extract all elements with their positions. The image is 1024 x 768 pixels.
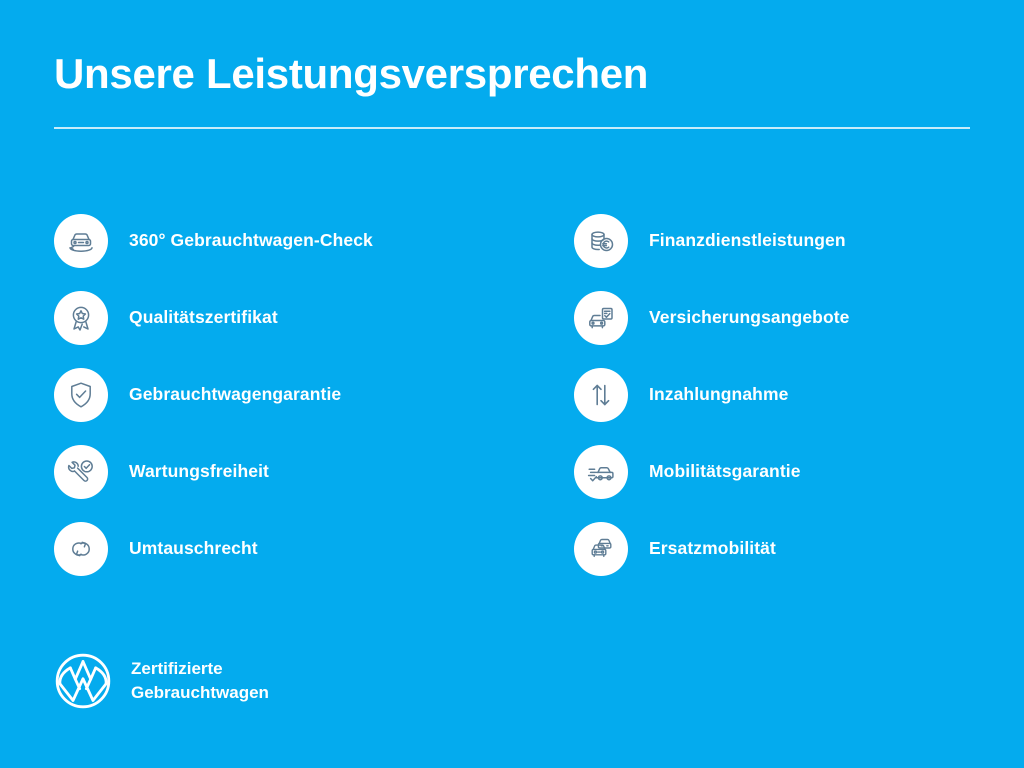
brand-line-1: Zertifizierte	[131, 659, 223, 678]
feature-label: Versicherungsangebote	[649, 307, 850, 328]
exchange-arrows-icon	[54, 522, 108, 576]
feature-label: Finanzdienstleistungen	[649, 230, 846, 251]
coins-euro-icon	[574, 214, 628, 268]
feature-item-qualitaetszertifikat: Qualitätszertifikat	[54, 279, 574, 356]
shield-check-icon	[54, 368, 108, 422]
feature-label: Inzahlungnahme	[649, 384, 788, 405]
page-title: Unsere Leistungsversprechen	[54, 50, 970, 98]
feature-item-mobilitaetsgarantie: Mobilitätsgarantie	[574, 433, 984, 510]
brand-footer: Zertifizierte Gebrauchtwagen	[54, 652, 269, 710]
features-grid: 360° Gebrauchtwagen-Check Finanzdienstle…	[54, 202, 984, 587]
car-motion-check-icon	[574, 445, 628, 499]
feature-label: Ersatzmobilität	[649, 538, 776, 559]
brand-text: Zertifizierte Gebrauchtwagen	[131, 657, 269, 705]
two-cars-icon	[574, 522, 628, 576]
arrows-up-down-icon	[574, 368, 628, 422]
feature-item-versicherungsangebote: Versicherungsangebote	[574, 279, 984, 356]
feature-item-finanzdienstleistungen: Finanzdienstleistungen	[574, 202, 984, 279]
brand-line-2: Gebrauchtwagen	[131, 683, 269, 702]
award-rosette-icon	[54, 291, 108, 345]
feature-item-wartungsfreiheit: Wartungsfreiheit	[54, 433, 574, 510]
feature-label: Qualitätszertifikat	[129, 307, 278, 328]
feature-item-umtauschrecht: Umtauschrecht	[54, 510, 574, 587]
wrench-check-icon	[54, 445, 108, 499]
feature-item-inzahlungnahme: Inzahlungnahme	[574, 356, 984, 433]
car-360-check-icon	[54, 214, 108, 268]
feature-label: Wartungsfreiheit	[129, 461, 269, 482]
header: Unsere Leistungsversprechen	[54, 50, 970, 129]
car-document-icon	[574, 291, 628, 345]
feature-item-360-check: 360° Gebrauchtwagen-Check	[54, 202, 574, 279]
slide-root: Unsere Leistungsversprechen 360° Gebrauc…	[0, 0, 1024, 768]
feature-label: 360° Gebrauchtwagen-Check	[129, 230, 373, 251]
feature-item-gebrauchtwagengarantie: Gebrauchtwagengarantie	[54, 356, 574, 433]
feature-label: Umtauschrecht	[129, 538, 258, 559]
feature-item-ersatzmobilitaet: Ersatzmobilität	[574, 510, 984, 587]
feature-label: Mobilitätsgarantie	[649, 461, 801, 482]
volkswagen-logo-icon	[54, 652, 112, 710]
feature-label: Gebrauchtwagengarantie	[129, 384, 341, 405]
title-divider	[54, 127, 970, 129]
